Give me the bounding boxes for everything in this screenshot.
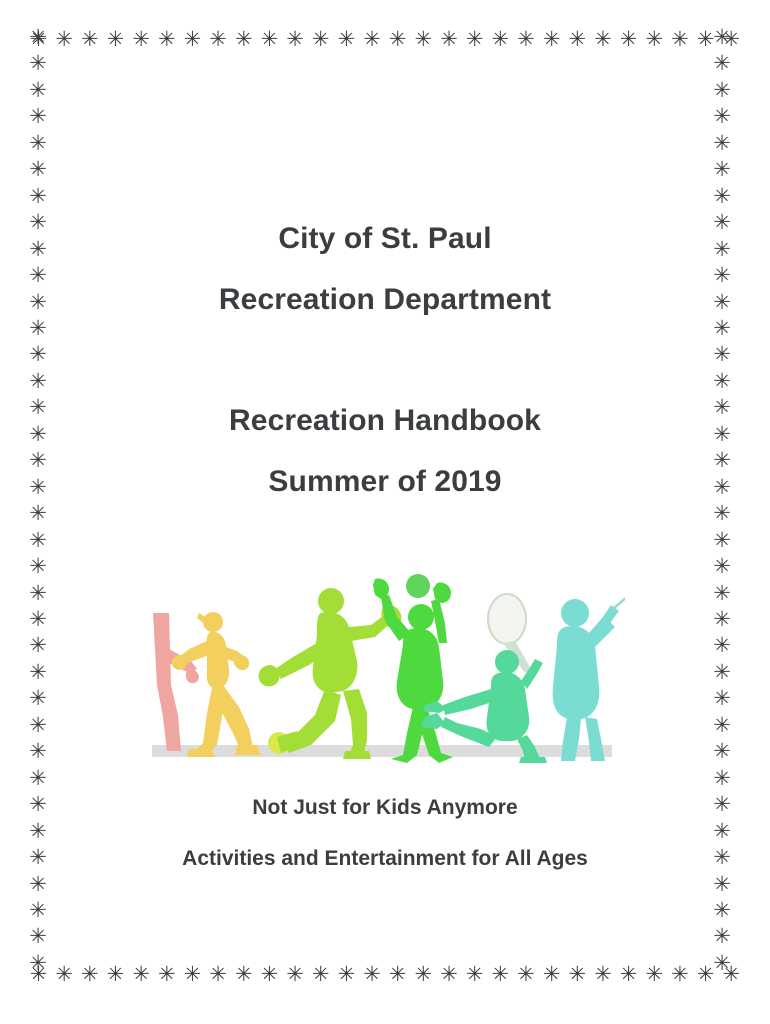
asterisk-star-ornament: ✳ [712, 159, 733, 181]
ground-bar [152, 745, 612, 757]
asterisk-star-ornament: ✳ [28, 106, 49, 128]
asterisk-star-ornament: ✳ [28, 80, 49, 102]
asterisk-star-ornament: ✳ [712, 186, 733, 208]
asterisk-star-ornament: ✳ [490, 29, 511, 51]
asterisk-star-ornament: ✳ [28, 926, 49, 948]
asterisk-star-ornament: ✳ [712, 53, 733, 75]
document-title-block: Recreation Handbook Summer of 2019 [0, 390, 770, 512]
asterisk-star-ornament: ✳ [669, 964, 690, 986]
tagline-block: Not Just for Kids Anymore Activities and… [0, 782, 770, 884]
asterisk-star-ornament: ✳ [28, 583, 49, 605]
asterisk-star-ornament: ✳ [712, 715, 733, 737]
asterisk-star-ornament: ✳ [28, 344, 49, 366]
asterisk-star-ornament: ✳ [712, 80, 733, 102]
tagline-line-2: Activities and Entertainment for All Age… [0, 833, 770, 884]
asterisk-star-ornament: ✳ [712, 635, 733, 657]
border-top: ✳✳✳✳✳✳✳✳✳✳✳✳✳✳✳✳✳✳✳✳✳✳✳✳✳✳✳✳ [28, 27, 742, 53]
asterisk-star-ornament: ✳ [28, 186, 49, 208]
asterisk-star-ornament: ✳ [28, 53, 49, 75]
asterisk-star-ornament: ✳ [695, 964, 716, 986]
asterisk-star-ornament: ✳ [541, 29, 562, 51]
organization-line-1: City of St. Paul [0, 208, 770, 269]
asterisk-star-ornament: ✳ [28, 29, 49, 51]
asterisk-star-ornament: ✳ [105, 964, 126, 986]
asterisk-star-ornament: ✳ [28, 27, 49, 49]
border-bottom: ✳✳✳✳✳✳✳✳✳✳✳✳✳✳✳✳✳✳✳✳✳✳✳✳✳✳✳✳ [28, 962, 742, 988]
asterisk-star-ornament: ✳ [28, 635, 49, 657]
asterisk-star-ornament: ✳ [28, 609, 49, 631]
asterisk-star-ornament: ✳ [131, 964, 152, 986]
asterisk-star-ornament: ✳ [182, 964, 203, 986]
asterisk-star-ornament: ✳ [618, 29, 639, 51]
asterisk-star-ornament: ✳ [592, 29, 613, 51]
asterisk-star-ornament: ✳ [362, 29, 383, 51]
asterisk-star-ornament: ✳ [387, 29, 408, 51]
asterisk-star-ornament: ✳ [464, 964, 485, 986]
asterisk-star-ornament: ✳ [464, 29, 485, 51]
asterisk-star-ornament: ✳ [28, 715, 49, 737]
asterisk-star-ornament: ✳ [336, 964, 357, 986]
asterisk-star-ornament: ✳ [712, 106, 733, 128]
asterisk-star-ornament: ✳ [712, 662, 733, 684]
asterisk-star-ornament: ✳ [156, 29, 177, 51]
asterisk-star-ornament: ✳ [712, 583, 733, 605]
document-page: ✳✳✳✳✳✳✳✳✳✳✳✳✳✳✳✳✳✳✳✳✳✳✳✳✳✳✳✳ ✳✳✳✳✳✳✳✳✳✳✳… [0, 0, 770, 1024]
asterisk-star-ornament: ✳ [259, 964, 280, 986]
organization-title-block: City of St. Paul Recreation Department [0, 208, 770, 330]
document-title: Recreation Handbook [0, 390, 770, 451]
asterisk-star-ornament: ✳ [387, 964, 408, 986]
document-season: Summer of 2019 [0, 451, 770, 512]
runner-figure [172, 612, 261, 757]
asterisk-star-ornament: ✳ [28, 159, 49, 181]
asterisk-star-ornament: ✳ [712, 27, 733, 49]
asterisk-star-ornament: ✳ [208, 964, 229, 986]
asterisk-star-ornament: ✳ [28, 953, 49, 975]
asterisk-star-ornament: ✳ [413, 964, 434, 986]
asterisk-star-ornament: ✳ [695, 29, 716, 51]
asterisk-star-ornament: ✳ [712, 556, 733, 578]
sports-silhouettes-illustration [145, 565, 625, 765]
asterisk-star-ornament: ✳ [712, 609, 733, 631]
asterisk-star-ornament: ✳ [515, 964, 536, 986]
asterisk-star-ornament: ✳ [28, 741, 49, 763]
asterisk-star-ornament: ✳ [592, 964, 613, 986]
asterisk-star-ornament: ✳ [712, 688, 733, 710]
asterisk-star-ornament: ✳ [712, 741, 733, 763]
asterisk-star-ornament: ✳ [439, 29, 460, 51]
asterisk-star-ornament: ✳ [644, 964, 665, 986]
asterisk-star-ornament: ✳ [721, 964, 742, 986]
asterisk-star-ornament: ✳ [712, 926, 733, 948]
organization-line-2: Recreation Department [0, 269, 770, 330]
asterisk-star-ornament: ✳ [336, 29, 357, 51]
asterisk-star-ornament: ✳ [233, 29, 254, 51]
asterisk-star-ornament: ✳ [233, 964, 254, 986]
tagline-line-1: Not Just for Kids Anymore [0, 782, 770, 833]
asterisk-star-ornament: ✳ [79, 29, 100, 51]
asterisk-star-ornament: ✳ [79, 964, 100, 986]
asterisk-star-ornament: ✳ [131, 29, 152, 51]
asterisk-star-ornament: ✳ [28, 964, 49, 986]
asterisk-star-ornament: ✳ [28, 688, 49, 710]
asterisk-star-ornament: ✳ [567, 964, 588, 986]
asterisk-star-ornament: ✳ [712, 900, 733, 922]
asterisk-star-ornament: ✳ [285, 964, 306, 986]
asterisk-star-ornament: ✳ [28, 133, 49, 155]
asterisk-star-ornament: ✳ [310, 29, 331, 51]
asterisk-star-ornament: ✳ [310, 964, 331, 986]
asterisk-star-ornament: ✳ [721, 29, 742, 51]
asterisk-star-ornament: ✳ [669, 29, 690, 51]
asterisk-star-ornament: ✳ [28, 556, 49, 578]
asterisk-star-ornament: ✳ [182, 29, 203, 51]
stretching-figure-partial [153, 613, 199, 751]
asterisk-star-ornament: ✳ [439, 964, 460, 986]
asterisk-star-ornament: ✳ [28, 530, 49, 552]
golf-club [613, 583, 625, 609]
golf-figure [553, 599, 619, 761]
asterisk-star-ornament: ✳ [712, 953, 733, 975]
asterisk-star-ornament: ✳ [567, 29, 588, 51]
asterisk-star-ornament: ✳ [54, 29, 75, 51]
asterisk-star-ornament: ✳ [541, 964, 562, 986]
asterisk-star-ornament: ✳ [712, 530, 733, 552]
asterisk-star-ornament: ✳ [28, 662, 49, 684]
asterisk-star-ornament: ✳ [208, 29, 229, 51]
asterisk-star-ornament: ✳ [54, 964, 75, 986]
asterisk-star-ornament: ✳ [712, 133, 733, 155]
asterisk-star-ornament: ✳ [28, 900, 49, 922]
volleyball [406, 574, 430, 598]
asterisk-star-ornament: ✳ [644, 29, 665, 51]
asterisk-star-ornament: ✳ [712, 344, 733, 366]
asterisk-star-ornament: ✳ [618, 964, 639, 986]
asterisk-star-ornament: ✳ [105, 29, 126, 51]
asterisk-star-ornament: ✳ [413, 29, 434, 51]
asterisk-star-ornament: ✳ [515, 29, 536, 51]
asterisk-star-ornament: ✳ [285, 29, 306, 51]
asterisk-star-ornament: ✳ [259, 29, 280, 51]
asterisk-star-ornament: ✳ [156, 964, 177, 986]
asterisk-star-ornament: ✳ [490, 964, 511, 986]
asterisk-star-ornament: ✳ [362, 964, 383, 986]
